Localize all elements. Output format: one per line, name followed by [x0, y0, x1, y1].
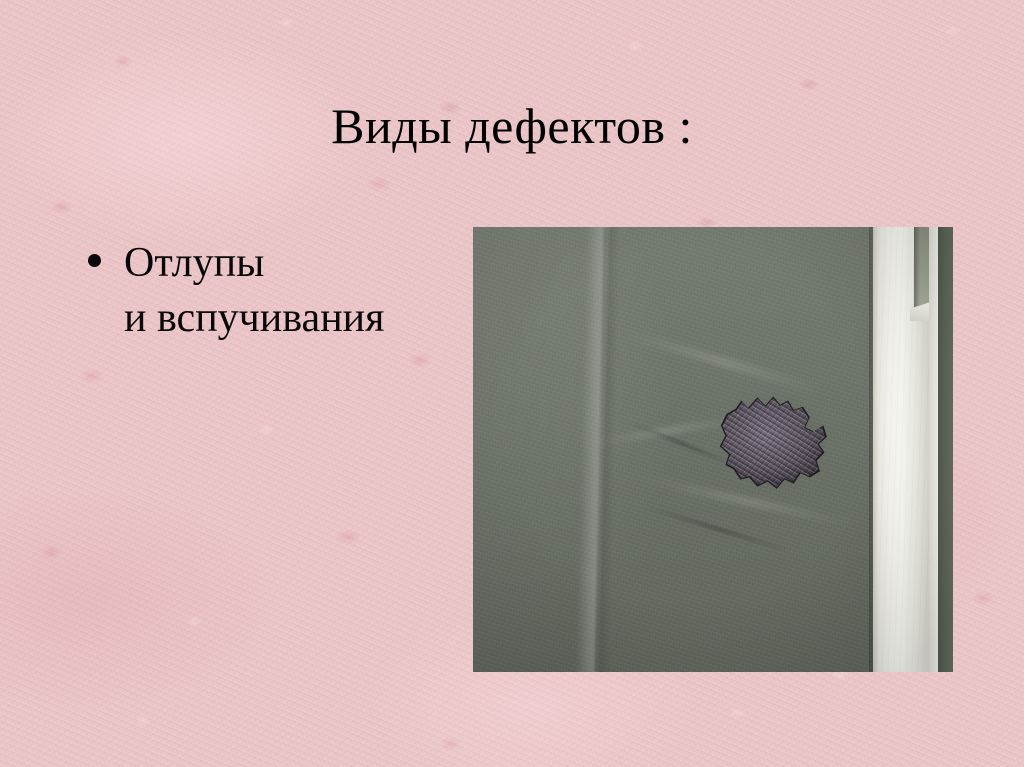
photo-peeling-paint-patch	[716, 390, 826, 490]
slide-title: Виды дефектов :	[0, 99, 1024, 154]
bullet-list-item: Отлупы и вспучивания	[84, 236, 464, 346]
photo-wall-surface	[473, 227, 873, 672]
peeling-paint-photo	[473, 227, 953, 672]
photo-window-gap-shadow	[914, 227, 920, 309]
photo-edge-dark-strip	[938, 227, 953, 672]
photo-peel-surface	[716, 390, 826, 490]
slide: Виды дефектов : Отлупы и вспучивания	[0, 0, 1024, 767]
bullet-dot-icon	[88, 254, 101, 267]
bullet-item-label: Отлупы и вспучивания	[124, 236, 464, 346]
